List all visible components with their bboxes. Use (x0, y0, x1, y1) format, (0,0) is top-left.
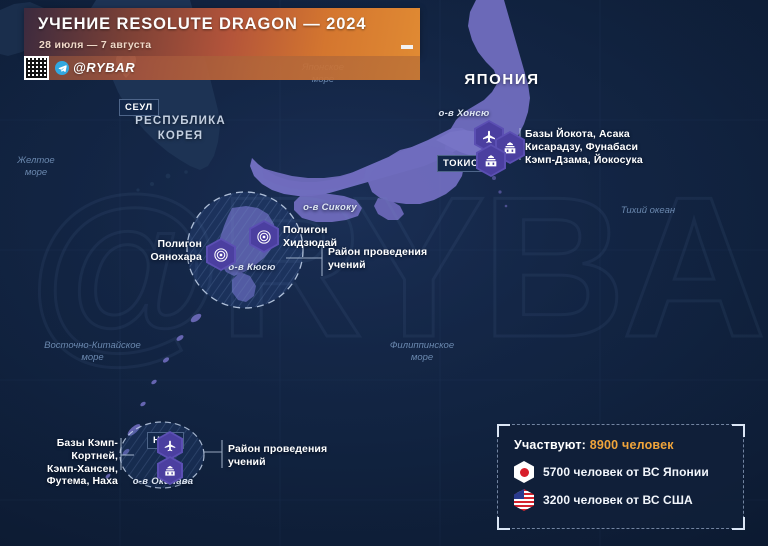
exercise-zone-kyushu (187, 192, 303, 308)
legend-title: Участвуют: 8900 человек (514, 438, 727, 452)
legend-title-prefix: Участвуют: (514, 438, 590, 452)
channel-handle: @RYBAR (73, 60, 135, 75)
legend-row-japan: 5700 человек от ВС Японии (514, 461, 727, 483)
qr-code-icon[interactable] (24, 56, 49, 80)
banner-tick-mark (401, 45, 413, 49)
military-base-icon (163, 464, 177, 478)
usa-flag-icon (514, 489, 534, 511)
corner-bracket-br (732, 517, 745, 530)
legend-row-usa: 3200 человек от ВС США (514, 489, 727, 511)
telegram-icon[interactable] (55, 61, 69, 75)
legend-row-japan-text: 5700 человек от ВС Японии (543, 465, 709, 479)
military-base-icon (483, 153, 499, 169)
target-icon (213, 247, 229, 263)
corner-bracket-bl (497, 517, 510, 530)
legend-total-value: 8900 человек (590, 438, 674, 452)
corner-bracket-tl (497, 424, 510, 437)
corner-bracket-tr (732, 424, 745, 437)
title-banner: УЧЕНИЕ RESOLUTE DRAGON — 2024 28 июля — … (24, 8, 420, 56)
japan-flag-icon (514, 461, 534, 483)
target-icon (256, 229, 272, 245)
infographic-root: @RYBAR Японское море Желтое море Восточн… (0, 0, 768, 546)
page-title: УЧЕНИЕ RESOLUTE DRAGON — 2024 (38, 15, 366, 34)
legend-row-usa-text: 3200 человек от ВС США (543, 493, 693, 507)
date-range: 28 июля — 7 августа (39, 39, 151, 51)
airplane-icon (163, 439, 177, 453)
airplane-icon (481, 129, 497, 145)
legend-panel: Участвуют: 8900 человек 5700 человек от … (497, 424, 744, 529)
